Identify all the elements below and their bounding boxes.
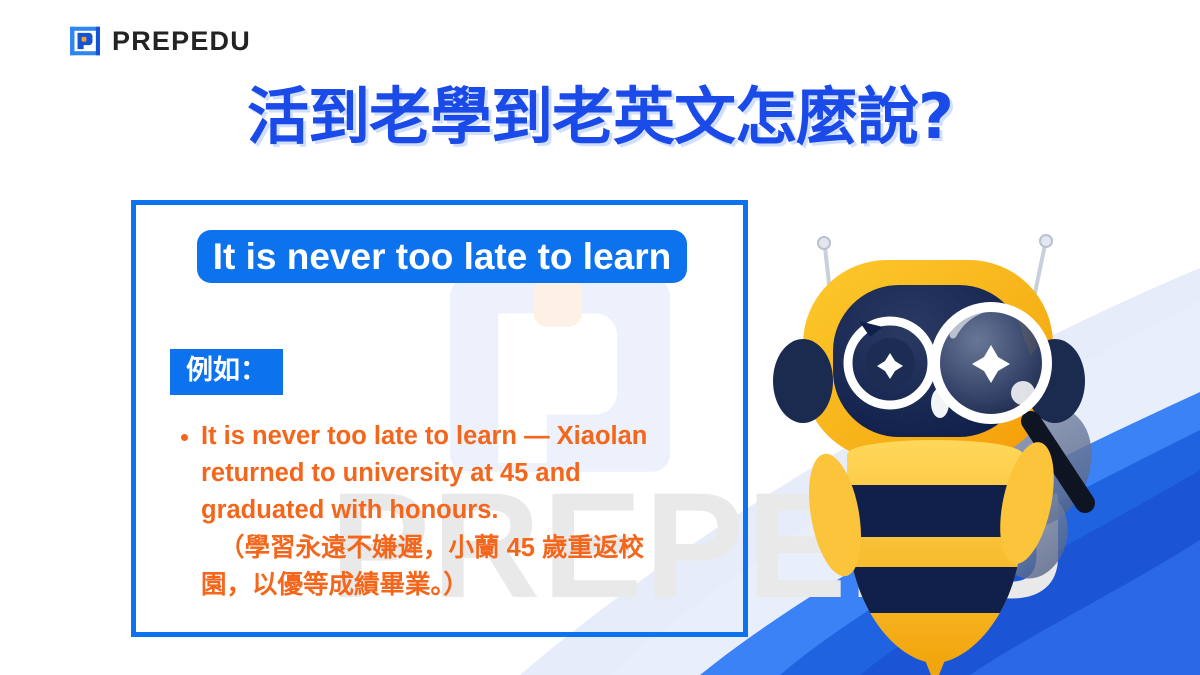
example-label-badge: 例如： xyxy=(170,349,283,395)
phrase-text: It is never too late to learn xyxy=(197,230,688,283)
logo-wordmark: PREPEDU xyxy=(112,28,251,55)
phrase-highlight: It is never too late to learn xyxy=(177,233,707,282)
bee-body xyxy=(801,437,1064,675)
example-chinese: （學習永遠不嫌遲，小蘭 45 歲重返校園，以優等成績畢業。） xyxy=(201,530,695,604)
prepedu-logo-icon xyxy=(68,24,102,58)
example-block: It is never too late to learn — Xiaolan … xyxy=(175,418,695,604)
page-title: 活到老學到老英文怎麼說? xyxy=(0,84,1200,149)
list-item: It is never too late to learn — Xiaolan … xyxy=(201,418,695,604)
example-english: It is never too late to learn — Xiaolan … xyxy=(201,422,647,524)
example-list: It is never too late to learn — Xiaolan … xyxy=(175,418,695,604)
slide-canvas: PREPEDU PREPEDU 活到老學到老英文怎麼說? It is never… xyxy=(0,0,1200,675)
bee-mascot xyxy=(755,185,1115,675)
brand-logo[interactable]: PREPEDU xyxy=(68,24,251,58)
